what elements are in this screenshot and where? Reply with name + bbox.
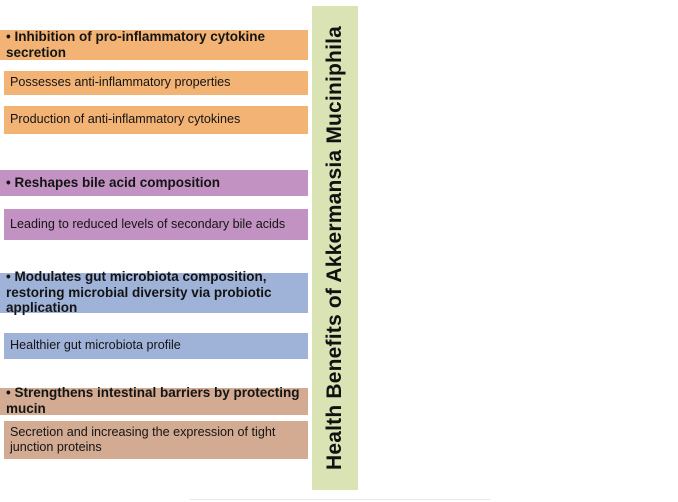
benefit-text: • Inhibition of pro-inflammatory cytokin…: [6, 29, 302, 60]
benefit-box-bile-acid-detail-1: Leading to reduced levels of secondary b…: [4, 209, 308, 240]
benefit-box-anti-inflammatory-heading: • Inhibition of pro-inflammatory cytokin…: [0, 30, 308, 60]
benefit-box-anti-inflammatory-detail-2: Production of anti-inflammatory cytokine…: [4, 106, 308, 134]
center-title-band: Health Benefits of Akkermansia Muciniphi…: [312, 6, 358, 490]
benefit-box-microbiota-heading: • Modulates gut microbiota composition, …: [0, 273, 308, 313]
benefit-text: • Strengthens intestinal barriers by pro…: [6, 385, 302, 416]
benefit-box-microbiota-detail-1: Healthier gut microbiota profile: [4, 333, 308, 359]
benefit-box-intestinal-barrier-heading: • Strengthens intestinal barriers by pro…: [0, 388, 308, 415]
benefit-text: Secretion and increasing the expression …: [10, 425, 302, 454]
figure-title: Health Benefits of Akkermansia Muciniphi…: [312, 6, 358, 490]
benefit-box-intestinal-barrier-detail-1: Secretion and increasing the expression …: [4, 421, 308, 459]
benefit-text: Possesses anti-inflammatory properties: [10, 75, 302, 90]
benefit-text: Healthier gut microbiota profile: [10, 338, 302, 353]
benefit-text: • Modulates gut microbiota composition, …: [6, 269, 302, 316]
left-benefits-column: • Inhibition of pro-inflammatory cytokin…: [0, 0, 308, 502]
benefit-text: Production of anti-inflammatory cytokine…: [10, 112, 302, 127]
bottom-divider: [190, 499, 490, 500]
benefit-text: Leading to reduced levels of secondary b…: [10, 217, 302, 232]
benefit-box-bile-acid-heading: • Reshapes bile acid composition: [0, 170, 308, 196]
benefit-box-anti-inflammatory-detail-1: Possesses anti-inflammatory properties: [4, 71, 308, 95]
benefit-text: • Reshapes bile acid composition: [6, 175, 302, 191]
diagram-canvas: • Inhibition of pro-inflammatory cytokin…: [0, 0, 678, 502]
right-benefits-column: • Therapeutic Potential Improves neurode…: [360, 0, 678, 502]
